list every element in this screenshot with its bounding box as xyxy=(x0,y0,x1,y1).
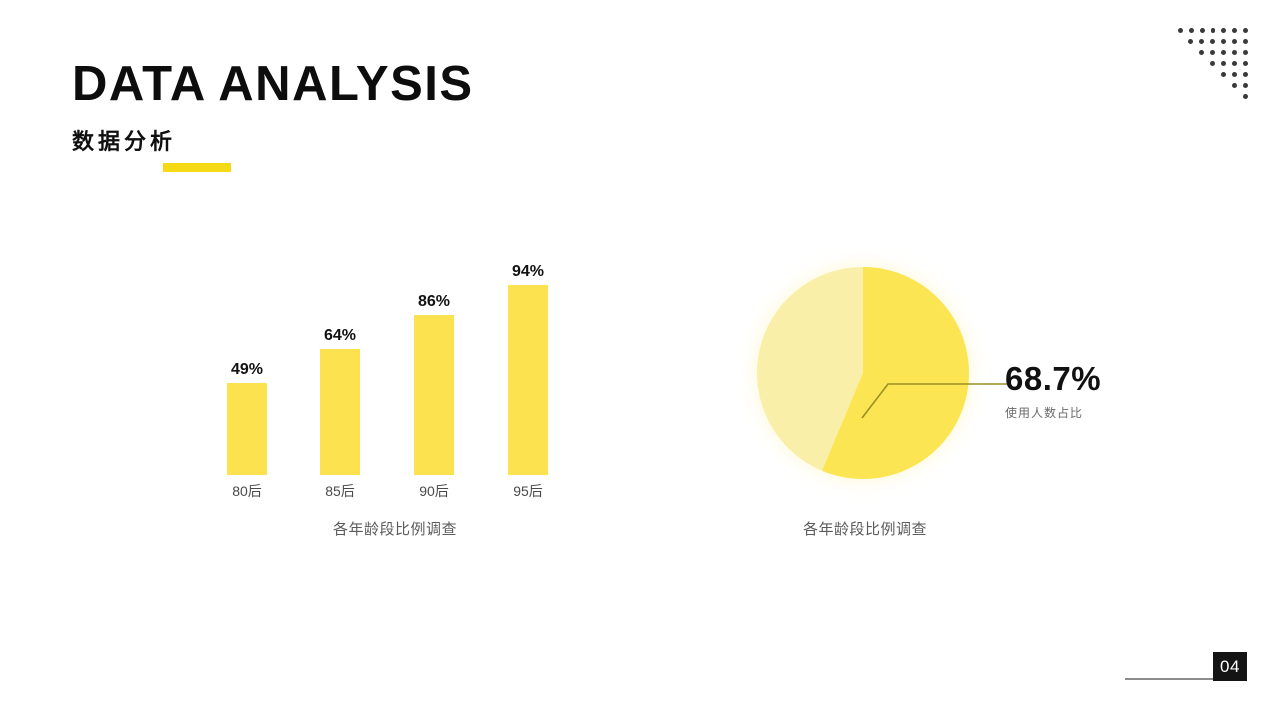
bar-group[interactable]: 49% 80后 xyxy=(227,361,267,475)
dot-row xyxy=(1172,94,1248,105)
bar-group[interactable]: 94% 95后 xyxy=(508,263,548,475)
header-block: DATA ANALYSIS 数据分析 xyxy=(72,60,474,171)
dot xyxy=(1232,83,1237,88)
dot-row xyxy=(1172,83,1248,94)
dot xyxy=(1243,94,1248,99)
dot xyxy=(1199,39,1204,44)
bar-category-label: 95后 xyxy=(496,481,560,501)
dot xyxy=(1211,28,1216,33)
page-subtitle: 数据分析 xyxy=(72,131,474,153)
bar-rect[interactable] xyxy=(414,315,454,475)
dot-row xyxy=(1172,61,1248,72)
bar-chart-plot-area: 49% 80后 64% 85后 86% 90后 94% 95后 xyxy=(180,250,610,475)
bar-group[interactable]: 86% 90后 xyxy=(414,293,454,475)
dot-row xyxy=(1172,72,1248,83)
dot xyxy=(1232,61,1237,66)
dot xyxy=(1243,28,1248,33)
bar-value-label: 49% xyxy=(227,361,267,379)
dot xyxy=(1210,50,1215,55)
bar-category-label: 85后 xyxy=(308,481,372,501)
subtitle-underline-accent xyxy=(163,163,231,172)
dot xyxy=(1210,61,1215,66)
pie-chart-caption: 各年龄段比例调查 xyxy=(650,518,1080,539)
dot xyxy=(1243,72,1248,77)
bar-chart-panel: 49% 80后 64% 85后 86% 90后 94% 95后 各年龄段比例调查 xyxy=(180,250,610,550)
dot xyxy=(1243,50,1248,55)
bar-rect[interactable] xyxy=(227,383,267,475)
page-number-badge: 04 xyxy=(1213,652,1247,681)
page-title: DATA ANALYSIS xyxy=(72,60,474,109)
pie-leader-line xyxy=(860,340,1020,420)
dot xyxy=(1221,72,1226,77)
dot xyxy=(1199,50,1204,55)
dot xyxy=(1221,61,1226,66)
footer-rule xyxy=(1125,678,1215,680)
dot xyxy=(1200,28,1205,33)
dot-row xyxy=(1172,39,1248,50)
pie-chart-panel: 68.7% 使用人数占比 各年龄段比例调查 xyxy=(650,250,1080,550)
bar-rect[interactable] xyxy=(508,285,548,475)
dot xyxy=(1243,39,1248,44)
dot xyxy=(1221,28,1226,33)
dot xyxy=(1232,39,1237,44)
dot-row xyxy=(1172,28,1248,39)
dot xyxy=(1243,83,1248,88)
dot-row xyxy=(1172,50,1248,61)
dot xyxy=(1221,39,1226,44)
dot xyxy=(1189,28,1194,33)
dot xyxy=(1210,39,1215,44)
dot xyxy=(1221,50,1226,55)
dot xyxy=(1232,72,1237,77)
dot xyxy=(1232,50,1237,55)
decorative-dot-pattern xyxy=(1172,28,1248,104)
bar-category-label: 90后 xyxy=(402,481,466,501)
pie-callout-value: 68.7% xyxy=(1005,362,1101,395)
bar-value-label: 64% xyxy=(320,327,360,345)
bar-group[interactable]: 64% 85后 xyxy=(320,327,360,475)
bar-rect[interactable] xyxy=(320,349,360,475)
bar-value-label: 94% xyxy=(508,263,548,281)
bar-value-label: 86% xyxy=(414,293,454,311)
dot xyxy=(1178,28,1183,33)
pie-callout-label: 使用人数占比 xyxy=(1005,404,1101,421)
pie-callout: 68.7% 使用人数占比 xyxy=(1005,362,1101,421)
page-subtitle-wrap: 数据分析 xyxy=(72,131,474,171)
dot xyxy=(1188,39,1193,44)
dot xyxy=(1243,61,1248,66)
dot xyxy=(1232,28,1237,33)
bar-category-label: 80后 xyxy=(215,481,279,501)
bar-chart-caption: 各年龄段比例调查 xyxy=(180,518,610,539)
